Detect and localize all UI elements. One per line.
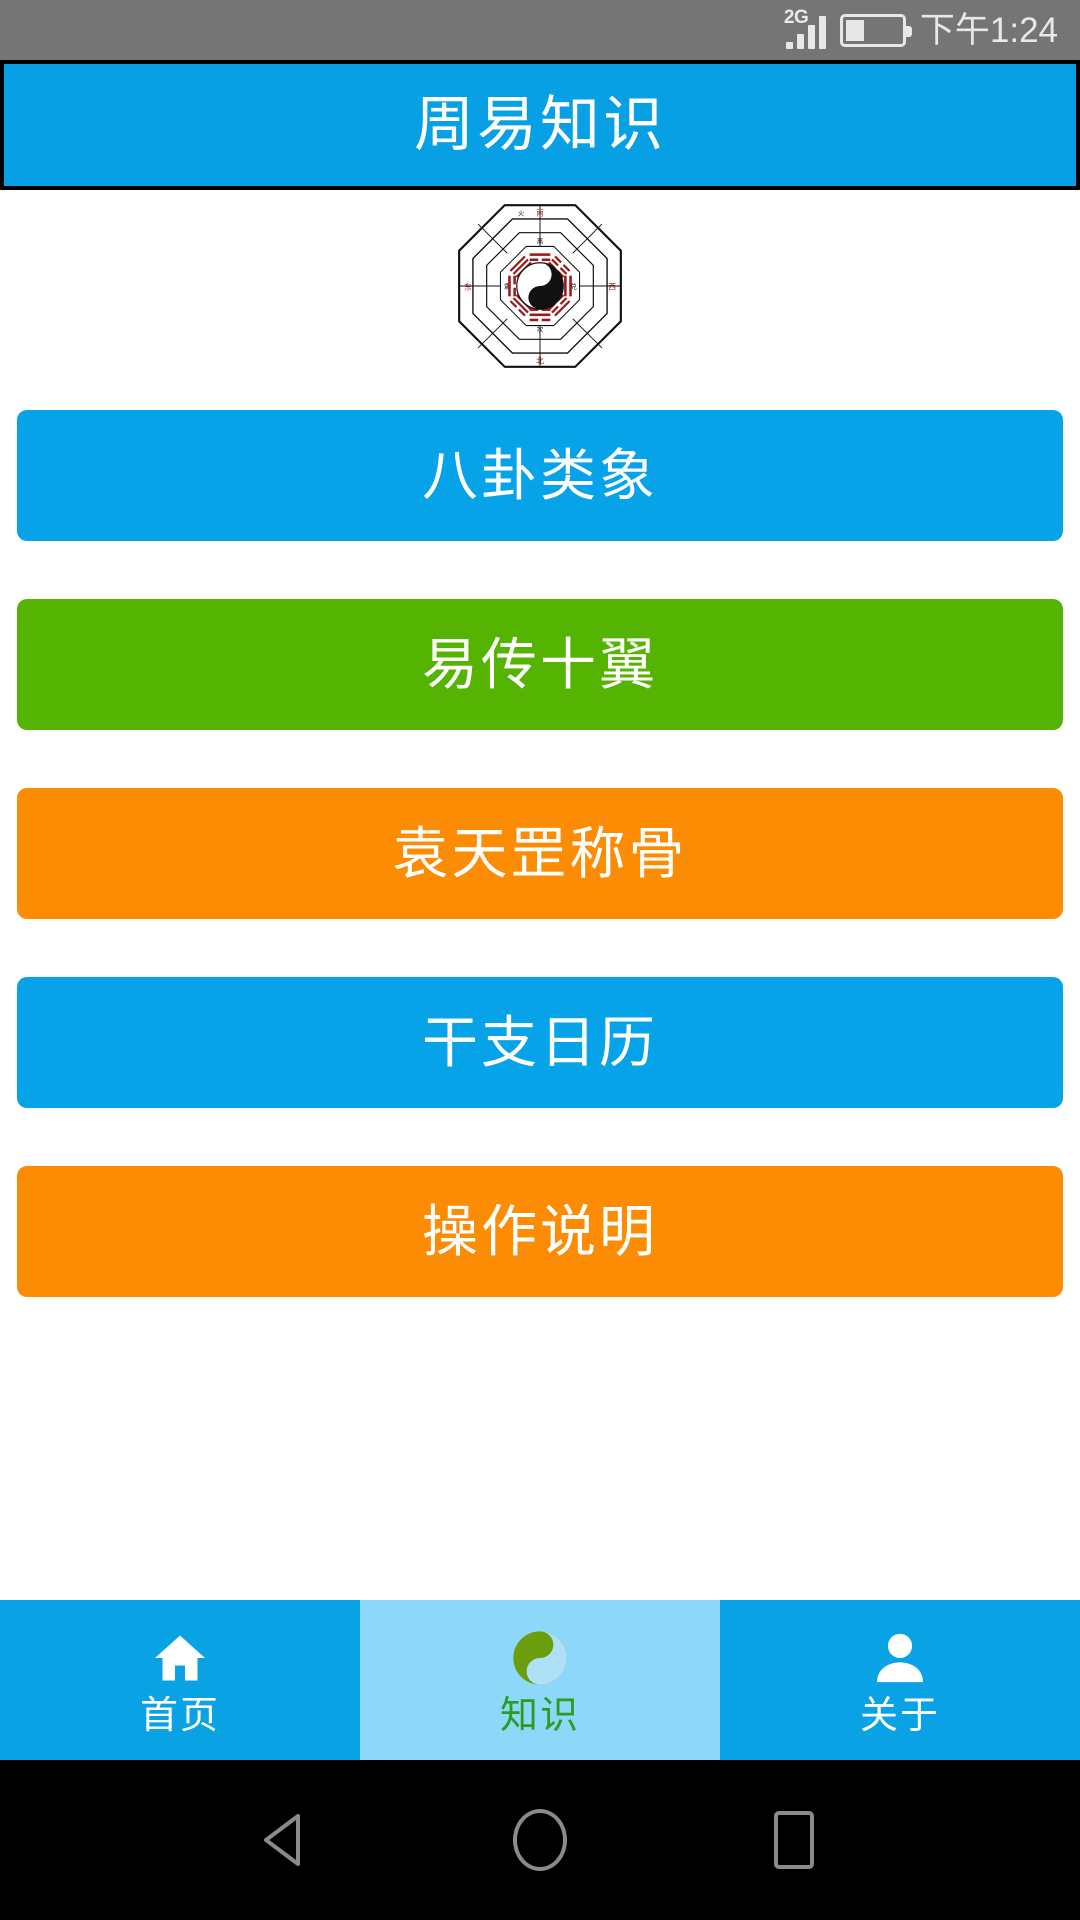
person-icon [867,1625,933,1691]
tab-home[interactable]: 首页 [0,1600,360,1760]
back-triangle-icon[interactable] [254,1808,318,1872]
menu-button-instructions[interactable]: 操作说明 [17,1166,1063,1297]
system-navigation-bar [0,1760,1080,1920]
hero-image-container: 南 北 东 西 火 离 坎 震 兑 [0,196,1080,376]
recents-square-icon[interactable] [762,1808,826,1872]
status-bar-clock: 下午1:24 [920,13,1058,48]
svg-text:北: 北 [536,356,544,365]
tab-home-label: 首页 [140,1697,220,1735]
menu-button-bagua-categories[interactable]: 八卦类象 [17,410,1063,541]
svg-text:火: 火 [518,209,525,217]
svg-text:离: 离 [537,236,544,245]
menu-button-yuan-tiangang-bone-weighing[interactable]: 袁天罡称骨 [17,788,1063,919]
tab-knowledge-label: 知识 [500,1697,580,1735]
tab-knowledge[interactable]: 知识 [360,1600,720,1760]
bagua-compass-image: 南 北 东 西 火 离 坎 震 兑 [454,200,626,372]
network-type-label: 2G [784,7,808,29]
tab-about-label: 关于 [860,1697,940,1735]
menu-button-ganzhi-calendar[interactable]: 干支日历 [17,977,1063,1108]
yin-yang-symbol [517,263,563,309]
main-menu: 八卦类象 易传十翼 袁天罡称骨 干支日历 操作说明 [0,410,1080,1355]
svg-text:南: 南 [536,207,544,217]
app-screen: 2G 下午1:24 周易知识 [0,0,1080,1920]
status-bar: 2G 下午1:24 [0,0,1080,60]
home-icon [147,1625,213,1691]
signal-bars-icon: 2G [786,11,826,49]
battery-icon [840,14,906,47]
svg-text:坎: 坎 [537,325,544,334]
app-title-bar: 周易知识 [0,60,1080,190]
home-circle-icon[interactable] [508,1808,572,1872]
page-title: 周易知识 [414,95,666,155]
yin-yang-icon [507,1625,573,1691]
tab-about[interactable]: 关于 [720,1600,1080,1760]
svg-text:西: 西 [608,282,616,291]
battery-fill [846,20,865,41]
menu-button-yizhuan-ten-wings[interactable]: 易传十翼 [17,599,1063,730]
bottom-tab-bar: 首页 知识 关于 [0,1600,1080,1760]
svg-text:东: 东 [464,281,472,291]
